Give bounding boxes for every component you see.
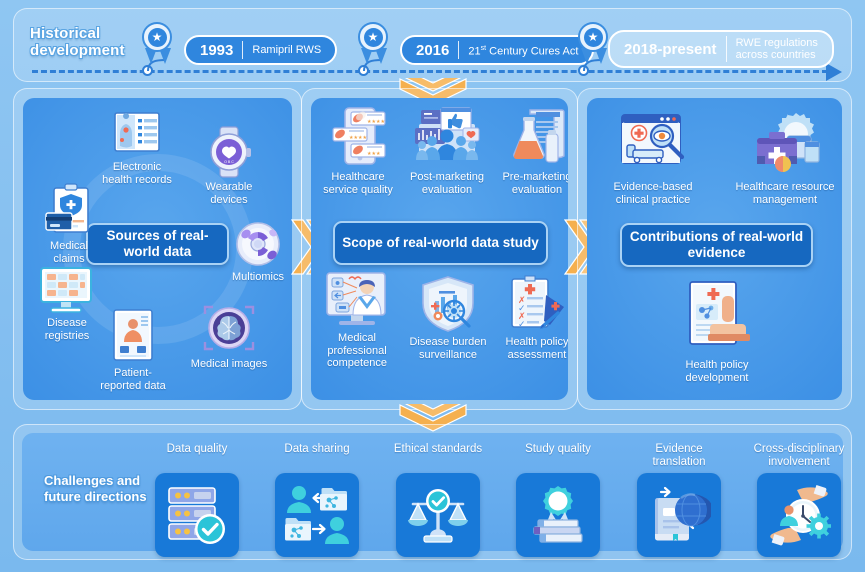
panel-contributions-title: Contributions of real-world evidence (620, 223, 813, 267)
panel-scope-title: Scope of real-world data study (333, 221, 548, 265)
timeline-event-2[interactable]: 2016 21st Century Cures Act (400, 35, 594, 65)
challenge-tile (637, 473, 721, 557)
item-healthcare-service-quality[interactable]: ★★★★ ★★★★ ★★★ Healthcare service quality (314, 106, 402, 196)
panel-sources-body: Sources of real- world data (23, 98, 292, 400)
item-label: Healthcare service quality (314, 171, 402, 196)
flask-document-icon (506, 106, 568, 168)
timeline-title: Historical development (30, 25, 142, 59)
medal-icon-2: ★ (356, 22, 390, 66)
item-medical-professional-competence[interactable]: Medical professional competence (312, 271, 402, 370)
phone-reviews-icon: ★★★★ ★★★★ ★★★ (327, 106, 389, 168)
challenge-label: Study quality (503, 443, 613, 469)
timeline-event-year: 2018-present (624, 41, 717, 58)
divider (726, 36, 727, 62)
infographic-root: Historical development ★ 1993 Ramipril R… (0, 0, 865, 572)
item-medical-images[interactable]: Medical images (181, 303, 277, 371)
item-label: Post-marketing evaluation (401, 171, 493, 196)
item-post-marketing-evaluation[interactable]: Post-marketing evaluation (401, 106, 493, 196)
challenges-body: Challenges and future directions Data qu… (22, 433, 843, 551)
challenge-label: Data sharing (262, 443, 372, 469)
timeline-event-desc: RWE regulations across countries (736, 37, 818, 61)
item-label: Multiomics (218, 271, 292, 284)
panel-contributions: Contributions of real-world evidence (577, 88, 852, 410)
item-label: Medical images (181, 358, 277, 371)
people-thumbsup-icon (411, 106, 483, 168)
svg-text:✓: ✓ (518, 319, 526, 329)
item-health-policy-development[interactable]: Health policy development (668, 280, 766, 384)
brain-scan-icon (202, 303, 256, 355)
books-award-icon (526, 484, 590, 546)
medal-icon-1: ★ (140, 22, 174, 66)
item-health-policy-assessment[interactable]: ✗ ✓ ✗ ✓ Health policy assessment (491, 275, 568, 361)
challenge-tile (516, 473, 600, 557)
checklist-pen-icon: ✗ ✓ ✗ ✓ (506, 275, 568, 333)
book-globe-icon (647, 484, 711, 546)
medkit-gear-icon (747, 112, 823, 178)
item-label: Health policy assessment (491, 336, 568, 361)
timeline-event-year: 2016 (416, 42, 449, 59)
timeline-section: Historical development ★ 1993 Ramipril R… (13, 8, 852, 82)
item-label: Health policy development (668, 359, 766, 384)
challenge-evidence-translation[interactable]: Evidence translation (624, 443, 734, 557)
item-label: Disease burden surveillance (402, 336, 494, 361)
challenge-tile (275, 473, 359, 557)
health-record-icon (111, 110, 163, 158)
challenge-label: Ethical standards (383, 443, 493, 469)
challenge-label: Evidence translation (624, 443, 734, 469)
svg-text:O B C: O B C (224, 160, 234, 164)
timeline-event-desc: Ramipril RWS (252, 44, 321, 56)
item-electronic-health-records[interactable]: Electronic health records (83, 110, 191, 186)
challenges-title: Challenges and future directions (44, 473, 148, 505)
item-healthcare-resource-management[interactable]: Healthcare resource management (725, 112, 842, 206)
item-label: Evidence-based clinical practice (603, 181, 703, 206)
smartwatch-icon: O B C (205, 126, 253, 178)
shield-chart-icon (417, 275, 479, 333)
item-label: Patient- reported data (87, 367, 179, 392)
challenge-label: Cross-disciplinary involvement (744, 443, 854, 469)
medal-icon-3: ★ (576, 22, 610, 66)
monitor-registry-icon (39, 266, 95, 314)
challenge-ethical-standards[interactable]: Ethical standards (383, 443, 493, 557)
challenge-data-quality[interactable]: Data quality (142, 443, 252, 557)
challenges-section: Challenges and future directions Data qu… (13, 424, 852, 560)
item-multiomics[interactable]: Multiomics (218, 220, 292, 284)
svg-text:★★★★: ★★★★ (367, 119, 385, 125)
item-disease-burden-surveillance[interactable]: Disease burden surveillance (402, 275, 494, 361)
timeline-event-3[interactable]: 2018-present RWE regulations across coun… (608, 30, 834, 68)
item-label: Medical professional competence (312, 332, 402, 370)
challenge-label: Data quality (142, 443, 252, 469)
panel-sources: Sources of real- world data (13, 88, 302, 410)
challenge-study-quality[interactable]: Study quality (503, 443, 613, 557)
hospital-bed-magnifier-icon (616, 112, 690, 178)
multiomics-icon (232, 220, 284, 268)
scales-check-icon (406, 484, 470, 546)
server-check-icon (165, 484, 229, 546)
item-wearable-devices[interactable]: O B C Wearable devices (186, 126, 272, 206)
panel-scope: Scope of real-world data study ★★★★ (301, 88, 578, 410)
svg-text:★★★: ★★★ (367, 151, 381, 157)
timeline-event-1[interactable]: 1993 Ramipril RWS (184, 35, 337, 65)
challenge-tile (155, 473, 239, 557)
clipboard-card-icon (44, 183, 94, 237)
item-label: Pre-marketing evaluation (493, 171, 568, 196)
timeline-arrowhead (826, 63, 842, 81)
document-stamp-icon (680, 280, 754, 356)
challenge-data-sharing[interactable]: Data sharing (262, 443, 372, 557)
item-patient-reported-data[interactable]: Patient- reported data (87, 308, 179, 392)
item-medical-claims[interactable]: Medical claims (29, 183, 109, 265)
item-evidence-based-clinical-practice[interactable]: Evidence-based clinical practice (603, 112, 703, 206)
timeline-event-year: 1993 (200, 42, 233, 59)
telemedicine-doctor-icon (323, 271, 391, 329)
timeline-event-desc: 21st Century Cures Act (468, 43, 578, 58)
divider (458, 41, 459, 59)
challenge-tile (396, 473, 480, 557)
patient-report-icon (110, 308, 156, 364)
item-label: Healthcare resource management (725, 181, 842, 206)
item-label: Wearable devices (186, 181, 272, 206)
item-label: Medical claims (29, 240, 109, 265)
panel-scope-body: Scope of real-world data study ★★★★ (311, 98, 568, 400)
main-panels-row: Sources of real- world data (13, 88, 852, 410)
users-folder-exchange-icon (285, 484, 349, 546)
challenge-tile (757, 473, 841, 557)
panel-contributions-body: Contributions of real-world evidence (587, 98, 842, 400)
challenge-cross-disciplinary-involvement[interactable]: Cross-disciplinary involvement (744, 443, 854, 557)
svg-text:★★★★: ★★★★ (349, 135, 367, 141)
item-pre-marketing-evaluation[interactable]: Pre-marketing evaluation (493, 106, 568, 196)
divider (242, 41, 243, 59)
hands-clock-gear-icon (767, 484, 831, 546)
